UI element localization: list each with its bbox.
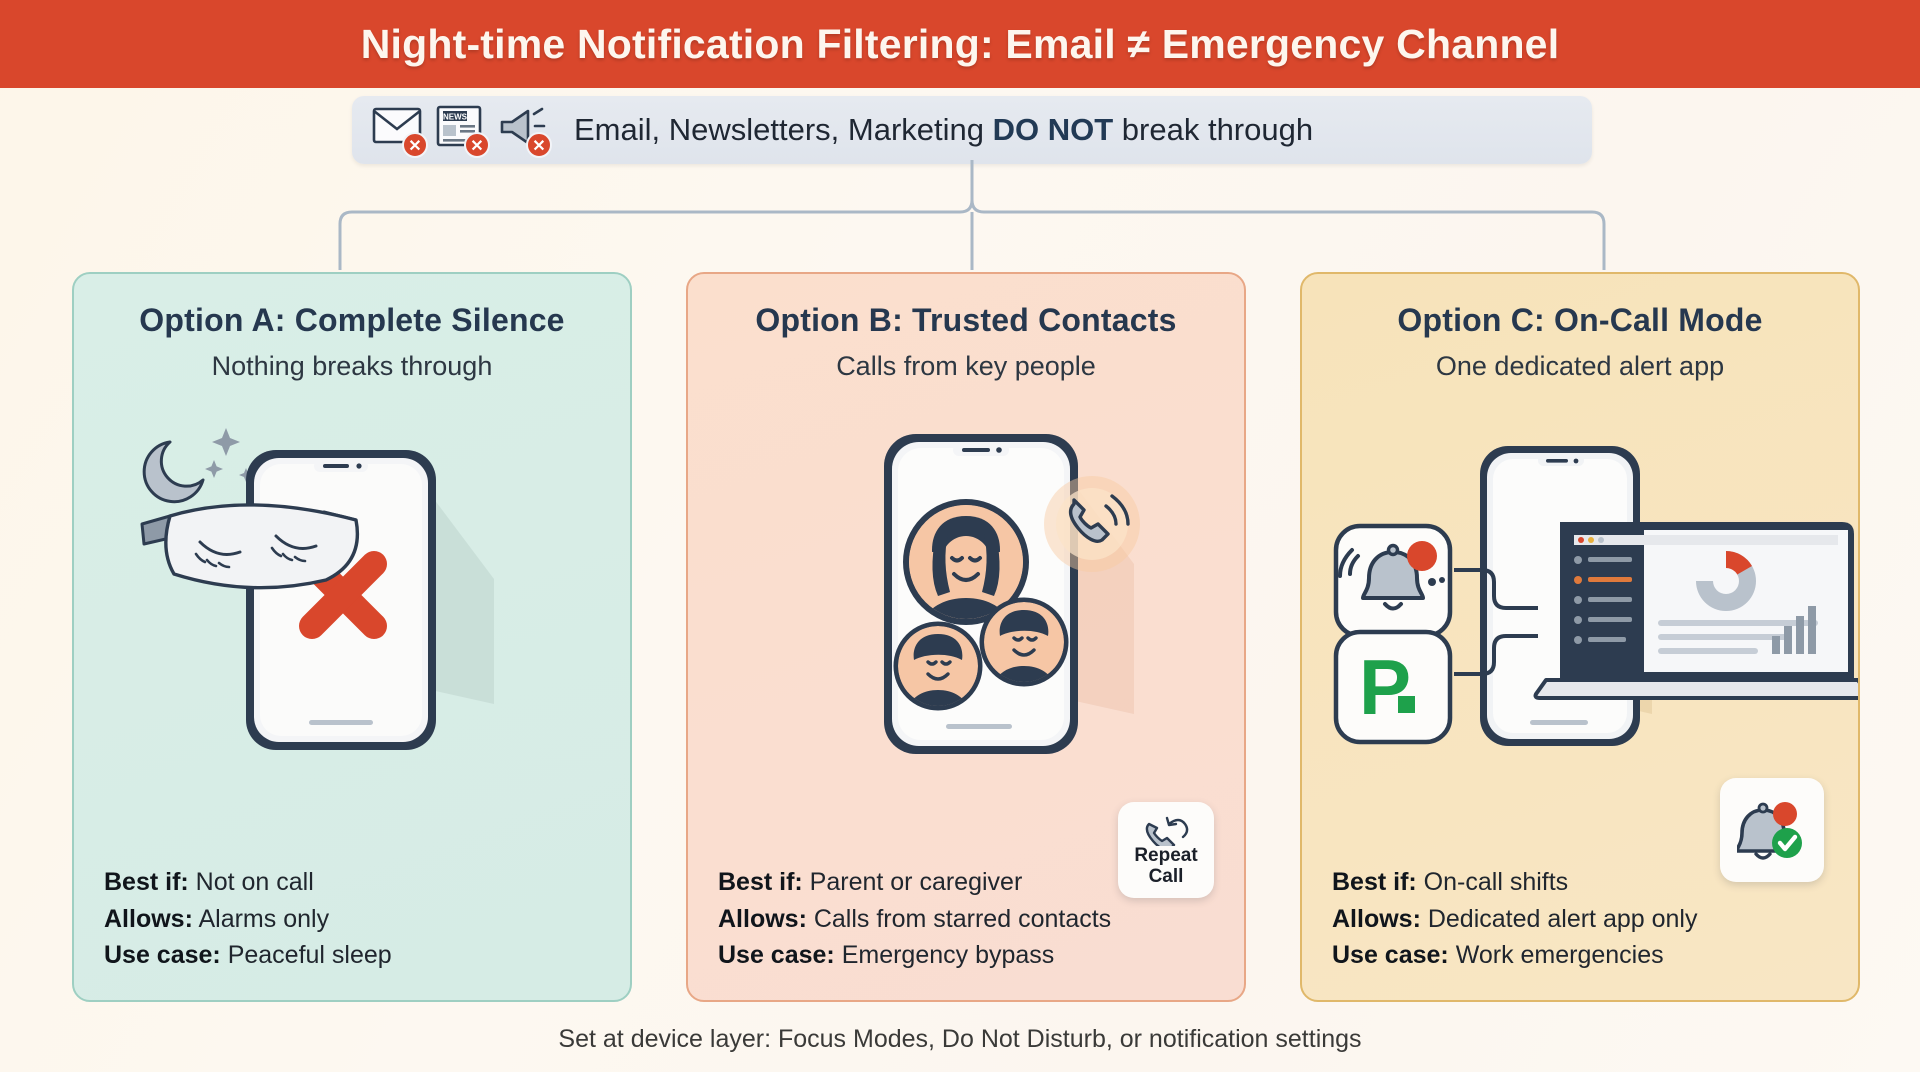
fact-value: Work emergencies <box>1449 941 1664 969</box>
repeat-call-icon <box>1143 812 1189 846</box>
fact-label: Allows: <box>718 905 807 933</box>
fact-label: Best if: <box>718 868 803 896</box>
title-bar: Night-time Notification Filtering: Email… <box>0 0 1920 88</box>
card-a-subtitle: Nothing breaks through <box>74 351 630 382</box>
blocked-badge: ✕ <box>402 132 428 158</box>
card-a-facts: Best if: Not on call Allows: Alarms only… <box>104 864 614 974</box>
fact-value: Dedicated alert app only <box>1421 905 1698 933</box>
card-a-title: Option A: Complete Silence <box>74 302 630 339</box>
fact-label: Allows: <box>1332 905 1421 933</box>
fact-value: On-call shifts <box>1417 868 1568 896</box>
svg-text:NEWS: NEWS <box>443 113 468 122</box>
card-c-facts: Best if: On-call shifts Allows: Dedicate… <box>1332 864 1842 974</box>
fact-row: Allows: Calls from starred contacts <box>718 901 1228 938</box>
card-c-title: Option C: On-Call Mode <box>1302 302 1858 339</box>
alert-app-letter: P <box>1359 643 1411 731</box>
option-card-a[interactable]: Option A: Complete Silence Nothing break… <box>72 272 632 1002</box>
card-b-facts: Best if: Parent or caregiver Allows: Cal… <box>718 864 1228 974</box>
fact-row: Best if: On-call shifts <box>1332 864 1842 901</box>
blocked-badge: ✕ <box>526 132 552 158</box>
footer-note: Set at device layer: Focus Modes, Do Not… <box>0 1025 1920 1054</box>
fact-row: Best if: Not on call <box>104 864 614 901</box>
fact-value: Emergency bypass <box>835 941 1055 969</box>
newspaper-icon: NEWS ✕ <box>432 102 494 158</box>
card-b-title: Option B: Trusted Contacts <box>688 302 1244 339</box>
option-card-c[interactable]: Option C: On-Call Mode One dedicated ale… <box>1300 272 1860 1002</box>
fact-value: Parent or caregiver <box>803 868 1023 896</box>
card-c-illustration: P <box>1302 384 1860 824</box>
fact-row: Allows: Dedicated alert app only <box>1332 901 1842 938</box>
fact-value: Not on call <box>189 868 314 896</box>
card-b-illustration <box>688 384 1246 824</box>
fact-label: Use case: <box>718 941 835 969</box>
card-a-illustration <box>74 384 632 824</box>
bell-alert-approved-icon <box>1737 798 1807 862</box>
fact-label: Use case: <box>1332 941 1449 969</box>
banner-text-before: Email, Newsletters, Marketing <box>574 112 993 147</box>
connector-lines <box>0 160 1920 270</box>
banner-text: Email, Newsletters, Marketing DO NOT bre… <box>574 112 1313 148</box>
fact-value: Calls from starred contacts <box>807 905 1111 933</box>
megaphone-icon: ✕ <box>494 102 556 158</box>
fact-row: Use case: Work emergencies <box>1332 937 1842 974</box>
banner-text-after: break through <box>1113 112 1313 147</box>
envelope-icon: ✕ <box>370 102 432 158</box>
fact-row: Use case: Emergency bypass <box>718 937 1228 974</box>
fact-row: Use case: Peaceful sleep <box>104 937 614 974</box>
banner-text-strong: DO NOT <box>993 112 1114 147</box>
card-b-subtitle: Calls from key people <box>688 351 1244 382</box>
fact-label: Best if: <box>104 868 189 896</box>
fact-label: Allows: <box>104 905 193 933</box>
fact-row: Allows: Alarms only <box>104 901 614 938</box>
fact-value: Alarms only <box>193 905 329 933</box>
fact-row: Best if: Parent or caregiver <box>718 864 1228 901</box>
fact-label: Use case: <box>104 941 221 969</box>
option-card-b[interactable]: Option B: Trusted Contacts Calls from ke… <box>686 272 1246 1002</box>
page-title: Night-time Notification Filtering: Email… <box>361 21 1560 68</box>
blocked-badge: ✕ <box>464 132 490 158</box>
card-c-subtitle: One dedicated alert app <box>1302 351 1858 382</box>
blocked-channels-banner: ✕ NEWS ✕ ✕ Email, Newsletters, Marketing… <box>352 96 1592 164</box>
fact-label: Best if: <box>1332 868 1417 896</box>
fact-value: Peaceful sleep <box>221 941 392 969</box>
